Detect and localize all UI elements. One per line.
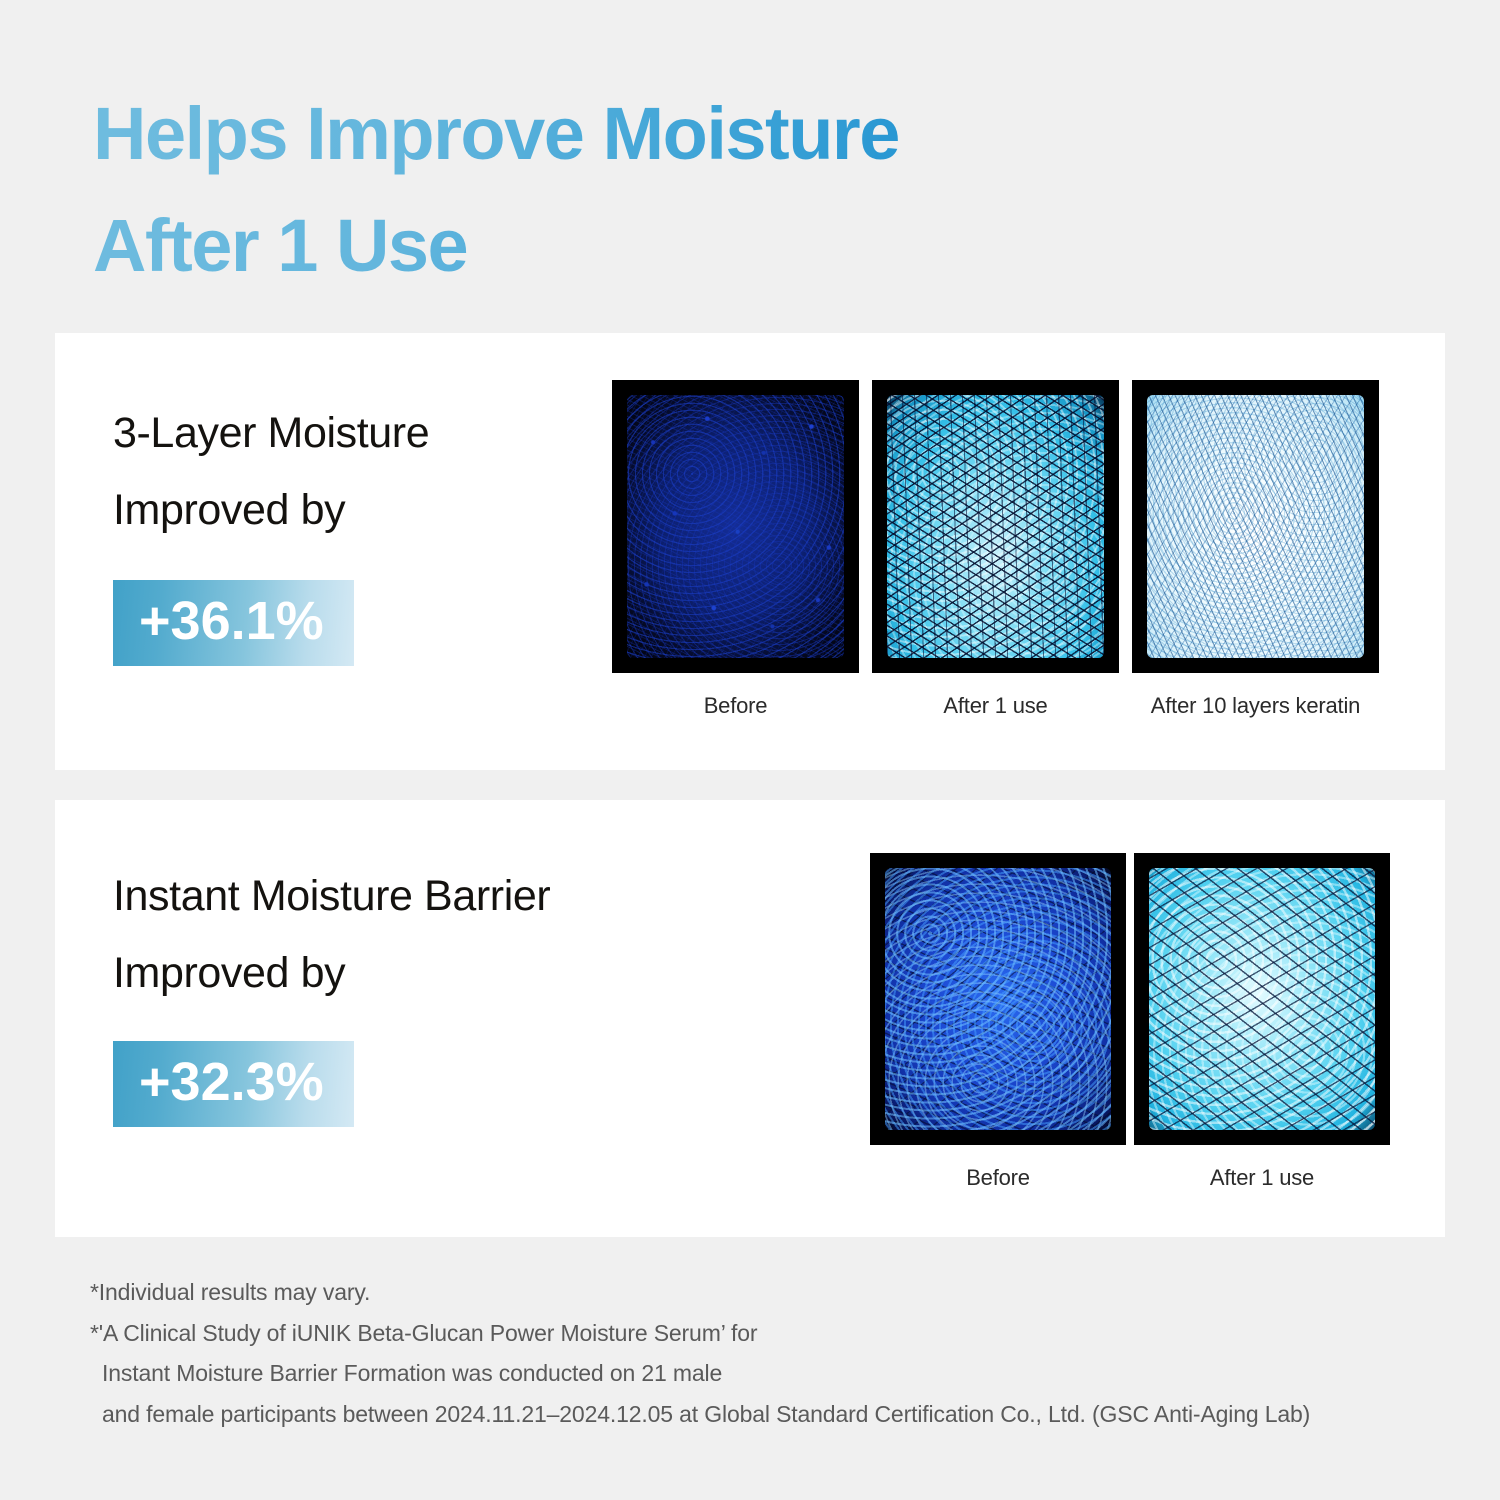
micrograph-panel: Before xyxy=(612,380,859,719)
micrograph-image-after-10-layers-keratin xyxy=(1132,380,1379,673)
micrograph-image-after-1-use xyxy=(872,380,1119,673)
micrograph-panel: Before xyxy=(870,853,1126,1191)
micrograph-label: Before xyxy=(704,693,768,719)
micrograph-panel: After 10 layers keratin xyxy=(1132,380,1379,719)
micrograph-panel: After 1 use xyxy=(1134,853,1390,1191)
micrograph-label: Before xyxy=(966,1165,1030,1191)
micrograph-texture xyxy=(1149,868,1374,1131)
micrograph-image-before xyxy=(612,380,859,673)
micrograph-texture xyxy=(887,395,1104,659)
micrograph-label: After 1 use xyxy=(1210,1165,1314,1191)
card-text-block: Instant Moisture Barrier Improved by +32… xyxy=(113,858,550,1127)
micrograph-texture xyxy=(627,395,844,659)
micrograph-image-before xyxy=(870,853,1126,1145)
card-text-block: 3-Layer Moisture Improved by +36.1% xyxy=(113,395,429,666)
status-badge: +36.1% xyxy=(113,580,354,666)
footnote-line: Instant Moisture Barrier Formation was c… xyxy=(90,1353,1430,1394)
page-title: Helps Improve Moisture After 1 Use xyxy=(93,78,1193,303)
micrograph-label: After 10 layers keratin xyxy=(1151,693,1360,719)
micrograph-panel: After 1 use xyxy=(872,380,1119,719)
card-heading: 3-Layer Moisture Improved by xyxy=(113,395,429,548)
footnote-line: *'A Clinical Study of iUNIK Beta-Glucan … xyxy=(90,1313,1430,1354)
micrograph-panel-group: Before After 1 use xyxy=(870,853,1390,1191)
micrograph-label: After 1 use xyxy=(943,693,1047,719)
footnote-line: and female participants between 2024.11.… xyxy=(90,1394,1430,1435)
result-card-instant-moisture-barrier: Instant Moisture Barrier Improved by +32… xyxy=(55,800,1445,1237)
footnote-line: *Individual results may vary. xyxy=(90,1272,1430,1313)
footnote-block: *Individual results may vary. *'A Clinic… xyxy=(90,1272,1430,1435)
result-card-3-layer-moisture: 3-Layer Moisture Improved by +36.1% Befo… xyxy=(55,333,1445,770)
micrograph-texture xyxy=(1147,395,1364,659)
micrograph-image-after-1-use xyxy=(1134,853,1390,1145)
micrograph-texture xyxy=(885,868,1110,1131)
card-heading: Instant Moisture Barrier Improved by xyxy=(113,858,550,1011)
status-badge: +32.3% xyxy=(113,1041,354,1127)
micrograph-panel-group: Before After 1 use After 10 layers kerat… xyxy=(612,380,1379,719)
